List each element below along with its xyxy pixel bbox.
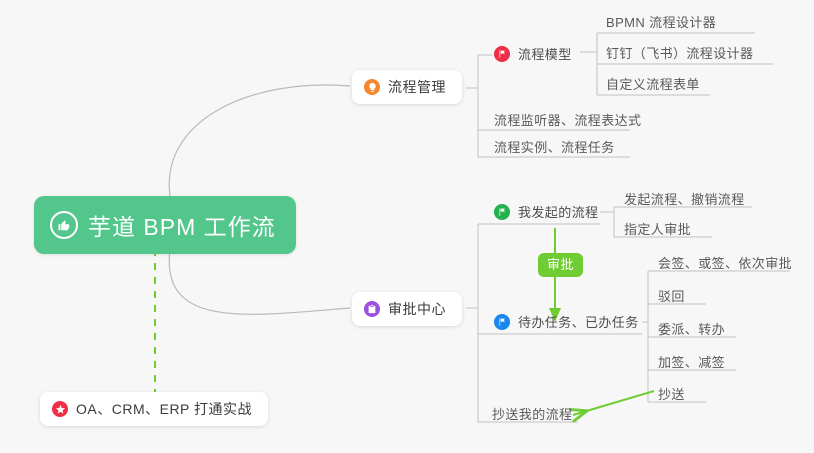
leaf-dingtalk-designer[interactable]: 钉钉（飞书）流程设计器 xyxy=(600,41,761,65)
leaf-listener-expression[interactable]: 流程监听器、流程表达式 xyxy=(488,108,649,132)
node-todo-done-tasks[interactable]: 待办任务、已办任务 xyxy=(492,310,645,334)
leaf-custom-form[interactable]: 自定义流程表单 xyxy=(600,72,708,96)
flag-green-icon xyxy=(494,204,510,220)
leaf-label: 流程监听器、流程表达式 xyxy=(494,110,641,129)
lightbulb-icon xyxy=(364,79,380,95)
leaf-label: 发起流程、撤销流程 xyxy=(624,189,745,208)
branch-label: 流程管理 xyxy=(388,77,446,97)
leaf-add-remove-sign[interactable]: 加签、减签 xyxy=(652,350,733,374)
branch-approval-center[interactable]: 审批中心 xyxy=(352,292,462,326)
bottom-note-node[interactable]: OA、CRM、ERP 打通实战 xyxy=(40,392,268,426)
thumbs-up-icon xyxy=(50,211,78,239)
leaf-label: 流程实例、流程任务 xyxy=(494,137,615,156)
edge-root-to-approval-center xyxy=(169,250,350,314)
leaf-bpmn-designer[interactable]: BPMN 流程设计器 xyxy=(600,10,724,34)
leaf-label: 抄送我的流程 xyxy=(492,404,572,423)
branch-label: 审批中心 xyxy=(388,299,446,319)
leaf-assignee-approval[interactable]: 指定人审批 xyxy=(618,217,699,241)
root-label: 芋道 BPM 工作流 xyxy=(88,208,276,242)
clipboard-icon xyxy=(364,301,380,317)
node-label: 待办任务、已办任务 xyxy=(518,312,639,331)
edge-root-to-process-management xyxy=(169,85,350,196)
leaf-delegate-transfer[interactable]: 委派、转办 xyxy=(652,317,733,341)
leaf-label: 委派、转办 xyxy=(658,319,725,338)
branch-process-management[interactable]: 流程管理 xyxy=(352,70,462,104)
leaf-label: 抄送 xyxy=(658,384,685,403)
flag-red-icon xyxy=(494,46,510,62)
leaf-label: 指定人审批 xyxy=(624,219,691,238)
node-label: 我发起的流程 xyxy=(518,202,598,221)
leaf-label: 钉钉（飞书）流程设计器 xyxy=(606,43,753,62)
leaf-cc-to-me[interactable]: 抄送我的流程 xyxy=(486,402,580,426)
root-node[interactable]: 芋道 BPM 工作流 xyxy=(34,196,296,254)
flag-blue-icon xyxy=(494,314,510,330)
leaf-countersign[interactable]: 会签、或签、依次审批 xyxy=(652,251,800,275)
bottom-note-label: OA、CRM、ERP 打通实战 xyxy=(76,399,252,419)
leaf-reject[interactable]: 驳回 xyxy=(652,284,693,308)
leaf-label: BPMN 流程设计器 xyxy=(606,12,716,31)
leaf-start-cancel-process[interactable]: 发起流程、撤销流程 xyxy=(618,187,753,211)
mindmap-canvas: 芋道 BPM 工作流 OA、CRM、ERP 打通实战 流程管理 流程模型 BPM… xyxy=(0,0,814,453)
node-process-model[interactable]: 流程模型 xyxy=(492,42,578,66)
edge-cc-to-cc-mine-arrow xyxy=(573,391,654,415)
star-icon xyxy=(52,401,68,417)
leaf-cc[interactable]: 抄送 xyxy=(652,382,693,406)
leaf-label: 加签、减签 xyxy=(658,352,725,371)
leaf-instance-task[interactable]: 流程实例、流程任务 xyxy=(488,135,623,159)
node-label: 流程模型 xyxy=(518,44,572,63)
leaf-label: 驳回 xyxy=(658,286,685,305)
approval-flow-tag: 审批 xyxy=(538,253,583,277)
leaf-label: 会签、或签、依次审批 xyxy=(658,253,792,272)
node-my-initiated-processes[interactable]: 我发起的流程 xyxy=(492,200,604,224)
leaf-label: 自定义流程表单 xyxy=(606,74,700,93)
